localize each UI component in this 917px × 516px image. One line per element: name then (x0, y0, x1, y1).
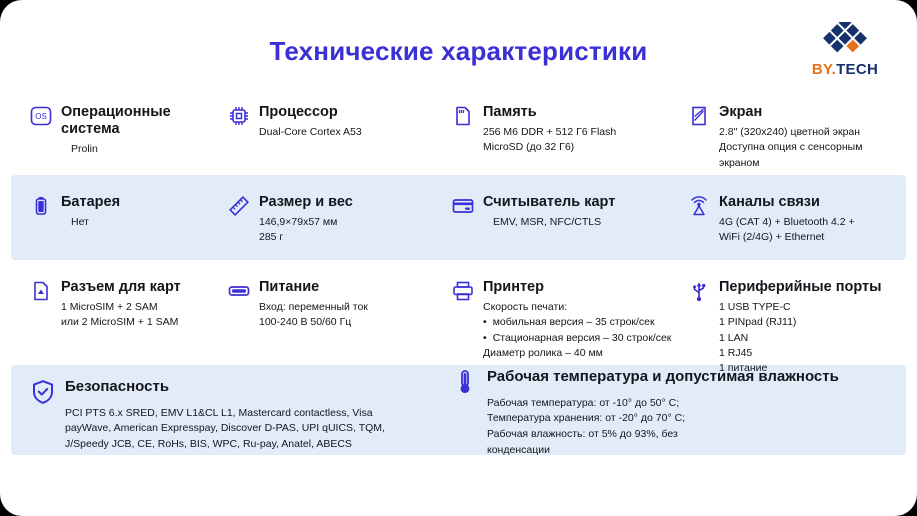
spec-body: БезопасностьPCI PTS 6.x SRED, EMV L1&CL … (65, 378, 430, 453)
spec-value: 4G (CAT 4) + Bluetooth 4.2 +WiFi (2/4G) … (719, 215, 900, 245)
spec-item-screen: Экран2.8" (320x240) цветной экранДоступн… (688, 104, 900, 171)
spec-value-line: Диаметр ролика – 40 мм (483, 346, 674, 361)
spec-title: Операционные система (61, 104, 225, 138)
spec-value: Нет (61, 215, 225, 230)
battery-icon (30, 194, 52, 219)
spec-value-line: Вход: переменный ток (259, 300, 428, 315)
spec-value-line: Dual-Core Cortex A53 (259, 125, 428, 140)
spec-value-line: мобильная версия – 35 строк/сек (493, 315, 655, 330)
svg-text:OS: OS (35, 112, 47, 121)
ruler-icon (228, 194, 250, 219)
spec-item-memory: Память256 М6 DDR + 512 Г6 FlashMicroSD (… (452, 104, 674, 156)
spec-title: Батарея (61, 194, 225, 211)
cpu-chip-icon (228, 104, 250, 129)
spec-item-card-reader: Считыватель картEMV, MSR, NFC/CTLS (452, 194, 674, 230)
spec-title: Разъем для карт (61, 279, 225, 296)
spec-item-battery: БатареяНет (30, 194, 225, 230)
spec-body: ПроцессорDual-Core Cortex A53 (259, 104, 428, 140)
spec-value-line: PCI PTS 6.x SRED, EMV L1&CL L1, Masterca… (65, 406, 430, 422)
bullet-dot-icon: • (483, 315, 487, 330)
spec-item-ports: Периферийные порты1 USB TYPE-C1 PINpad (… (688, 279, 900, 376)
spec-value: PCI PTS 6.x SRED, EMV L1&CL L1, Masterca… (65, 406, 430, 453)
spec-value-line: 100-240 В 50/60 Гц (259, 315, 428, 330)
spec-value-line: 146,9×79x57 мм (259, 215, 428, 230)
spec-body: Периферийные порты1 USB TYPE-C1 PINpad (… (719, 279, 900, 376)
spec-value-line: Стационарная версия – 30 строк/сек (493, 331, 672, 346)
spec-value: Скорость печати:•мобильная версия – 35 с… (483, 300, 674, 361)
spec-title: Размер и вес (259, 194, 428, 211)
power-adapter-icon (228, 279, 250, 304)
spec-value: Prolin (61, 142, 225, 157)
spec-title: Безопасность (65, 378, 430, 396)
spec-value: 1 USB TYPE-C1 PINpad (RJ11)1 LAN1 RJ451 … (719, 300, 900, 376)
spec-value-line: payWave, American Expresspay, Discover D… (65, 421, 430, 437)
thermometer-icon (452, 368, 478, 397)
spec-value-line: 2.8" (320x240) цветной экран (719, 125, 900, 140)
specs-grid: OSОперационные системаProlinПроцессорDua… (0, 0, 917, 516)
spec-title: Экран (719, 104, 900, 121)
spec-value-line: EMV, MSR, NFC/CTLS (493, 215, 674, 230)
spec-body: БатареяНет (61, 194, 225, 230)
spec-value-line: 1 RJ45 (719, 346, 900, 361)
spec-value: Вход: переменный ток100-240 В 50/60 Гц (259, 300, 428, 330)
spec-title: Питание (259, 279, 428, 296)
spec-item-card-slots: Разъем для карт1 MicroSIM + 2 SAMили 2 M… (30, 279, 225, 331)
spec-item-security: БезопасностьPCI PTS 6.x SRED, EMV L1&CL … (30, 378, 430, 453)
spec-value-line: Рабочая влажность: от 5% до 93%, без (487, 427, 842, 443)
os-badge-icon: OS (30, 104, 52, 129)
bullet-dot-icon: • (483, 331, 487, 346)
screen-icon (688, 104, 710, 129)
spec-item-temperature-humidity: Рабочая температура и допустимая влажнос… (452, 368, 842, 459)
spec-title: Периферийные порты (719, 279, 900, 296)
sim-card-icon (30, 279, 52, 304)
spec-value: 146,9×79x57 мм285 г (259, 215, 428, 245)
antenna-icon (688, 194, 710, 219)
spec-value-line: конденсации (487, 443, 842, 459)
spec-item-size-weight: Размер и вес146,9×79x57 мм285 г (228, 194, 428, 246)
usb-icon (688, 279, 710, 304)
spec-value-line: Доступна опция с сенсорным экраном (719, 140, 900, 170)
spec-value-line: WiFi (2/4G) + Ethernet (719, 230, 900, 245)
spec-body: Разъем для карт1 MicroSIM + 2 SAMили 2 M… (61, 279, 225, 331)
credit-card-icon (452, 194, 474, 219)
spec-value-line: 256 М6 DDR + 512 Г6 Flash (483, 125, 674, 140)
spec-sheet-page: BY.TECH Технические характеристики OSОпе… (0, 0, 917, 516)
spec-value-bullet: •Стационарная версия – 30 строк/сек (483, 331, 674, 346)
spec-title: Принтер (483, 279, 674, 296)
spec-body: ПитаниеВход: переменный ток100-240 В 50/… (259, 279, 428, 331)
spec-value-line: MicroSD (до 32 Г6) (483, 140, 674, 155)
spec-value: 256 М6 DDR + 512 Г6 FlashMicroSD (до 32 … (483, 125, 674, 155)
spec-value-line: Prolin (71, 142, 225, 157)
spec-value-line: Рабочая температура: от -10° до 50° C; (487, 396, 842, 412)
spec-value: 2.8" (320x240) цветной экранДоступна опц… (719, 125, 900, 171)
spec-value-line: J/Speedy JCB, CE, RoHs, BIS, WPC, Ru-pay… (65, 437, 430, 453)
spec-value-line: 1 MicroSIM + 2 SAM (61, 300, 225, 315)
spec-title: Считыватель карт (483, 194, 674, 211)
spec-value-line: Температура хранения: от -20° до 70° C; (487, 411, 842, 427)
spec-value-line: 285 г (259, 230, 428, 245)
spec-item-os: OSОперационные системаProlin (30, 104, 225, 157)
spec-item-printer: ПринтерСкорость печати:•мобильная версия… (452, 279, 674, 361)
spec-value-line: 1 PINpad (RJ11) (719, 315, 900, 330)
spec-value-line: или 2 MicroSIM + 1 SAM (61, 315, 225, 330)
spec-value-line: Нет (71, 215, 225, 230)
spec-body: ПринтерСкорость печати:•мобильная версия… (483, 279, 674, 361)
spec-value-line: 1 LAN (719, 331, 900, 346)
spec-value-bullet: •мобильная версия – 35 строк/сек (483, 315, 674, 330)
spec-value: Рабочая температура: от -10° до 50° C;Те… (487, 396, 842, 459)
spec-title: Каналы связи (719, 194, 900, 211)
spec-body: Размер и вес146,9×79x57 мм285 г (259, 194, 428, 246)
spec-body: Рабочая температура и допустимая влажнос… (487, 368, 842, 459)
spec-value-line: Скорость печати: (483, 300, 674, 315)
spec-body: Считыватель картEMV, MSR, NFC/CTLS (483, 194, 674, 230)
spec-title: Процессор (259, 104, 428, 121)
memory-card-icon (452, 104, 474, 129)
spec-body: Экран2.8" (320x240) цветной экранДоступн… (719, 104, 900, 171)
spec-title: Рабочая температура и допустимая влажнос… (487, 368, 842, 386)
printer-icon (452, 279, 474, 304)
spec-value: EMV, MSR, NFC/CTLS (483, 215, 674, 230)
spec-item-cpu: ПроцессорDual-Core Cortex A53 (228, 104, 428, 140)
spec-value-line: 1 USB TYPE-C (719, 300, 900, 315)
spec-item-connectivity: Каналы связи4G (CAT 4) + Bluetooth 4.2 +… (688, 194, 900, 246)
spec-body: Операционные системаProlin (61, 104, 225, 157)
spec-body: Память256 М6 DDR + 512 Г6 FlashMicroSD (… (483, 104, 674, 156)
shield-check-icon (30, 378, 56, 407)
spec-value: 1 MicroSIM + 2 SAMили 2 MicroSIM + 1 SAM (61, 300, 225, 330)
spec-value-line: 4G (CAT 4) + Bluetooth 4.2 + (719, 215, 900, 230)
spec-value: Dual-Core Cortex A53 (259, 125, 428, 140)
spec-item-power: ПитаниеВход: переменный ток100-240 В 50/… (228, 279, 428, 331)
spec-title: Память (483, 104, 674, 121)
spec-body: Каналы связи4G (CAT 4) + Bluetooth 4.2 +… (719, 194, 900, 246)
